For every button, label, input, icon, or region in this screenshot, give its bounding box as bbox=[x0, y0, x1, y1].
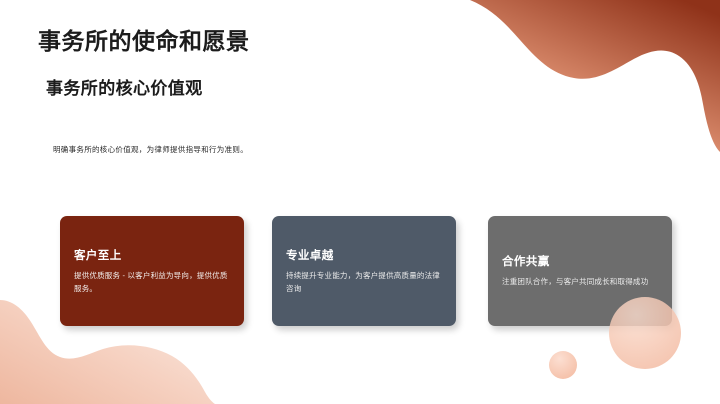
value-card-win-win-cooperation[interactable]: 合作共赢 注重团队合作，与客户共同成长和取得成功 bbox=[488, 216, 672, 326]
value-card-body: 注重团队合作，与客户共同成长和取得成功 bbox=[502, 276, 658, 288]
value-card-title: 客户至上 bbox=[74, 247, 230, 263]
value-card-body: 持续提升专业能力，为客户提供高质量的法律咨询 bbox=[286, 270, 442, 295]
value-card-group: 客户至上 提供优质服务 - 以客户利益为导向，提供优质服务。 专业卓越 持续提升… bbox=[0, 0, 720, 404]
value-card-body: 提供优质服务 - 以客户利益为导向，提供优质服务。 bbox=[74, 270, 230, 295]
value-card-professional-excellence[interactable]: 专业卓越 持续提升专业能力，为客户提供高质量的法律咨询 bbox=[272, 216, 456, 326]
slide-canvas: 事务所的使命和愿景 事务所的核心价值观 明确事务所的核心价值观，为律师提供指导和… bbox=[0, 0, 720, 404]
value-card-title: 专业卓越 bbox=[286, 247, 442, 263]
value-card-title: 合作共赢 bbox=[502, 253, 658, 269]
slide-content: 事务所的使命和愿景 事务所的核心价值观 明确事务所的核心价值观，为律师提供指导和… bbox=[0, 0, 720, 404]
value-card-customer-first[interactable]: 客户至上 提供优质服务 - 以客户利益为导向，提供优质服务。 bbox=[60, 216, 244, 326]
